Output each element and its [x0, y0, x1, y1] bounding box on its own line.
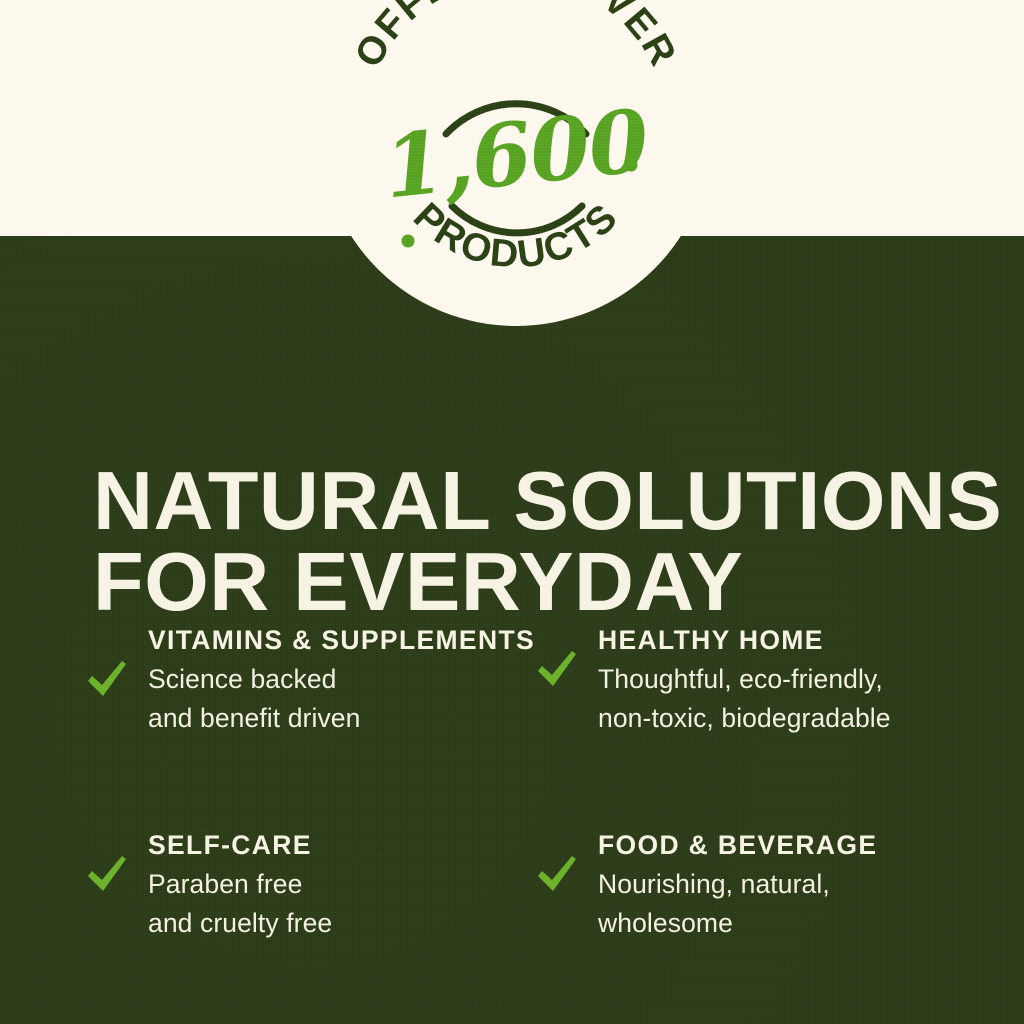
- feature-desc-line: Thoughtful, eco-friendly,: [598, 660, 986, 699]
- feature-title-line: HEALTHY HOME: [598, 625, 824, 655]
- feature-title-line: SELF-CARE: [148, 830, 312, 860]
- feature-title: FOOD & BEVERAGE: [598, 827, 986, 864]
- check-icon: [536, 650, 578, 688]
- feature-desc-line: and benefit driven: [148, 699, 536, 738]
- feature-desc-line: and cruelty free: [148, 904, 536, 943]
- feature-text: SELF-CARE Paraben free and cruelty free: [148, 825, 536, 943]
- feature-row: VITAMINS & SUPPLEMENTS Science backed an…: [86, 620, 986, 825]
- check-wrap: [536, 620, 598, 688]
- feature-list: VITAMINS & SUPPLEMENTS Science backed an…: [86, 620, 986, 943]
- feature-item-vitamins-supplements: VITAMINS & SUPPLEMENTS Science backed an…: [86, 620, 536, 825]
- feature-title: SELF-CARE: [148, 827, 536, 864]
- feature-text: HEALTHY HOME Thoughtful, eco-friendly, n…: [598, 620, 986, 738]
- feature-desc-line: wholesome: [598, 904, 986, 943]
- feature-description: Nourishing, natural, wholesome: [598, 865, 986, 943]
- check-wrap: [536, 825, 598, 893]
- feature-description: Thoughtful, eco-friendly, non-toxic, bio…: [598, 660, 986, 738]
- check-icon: [86, 660, 128, 698]
- feature-item-healthy-home: HEALTHY HOME Thoughtful, eco-friendly, n…: [536, 620, 986, 825]
- check-icon: [86, 855, 128, 893]
- feature-title-line: SUPPLEMENTS: [321, 625, 535, 655]
- badge-top-arc-textpath: OFFERING OVER: [347, 0, 685, 74]
- badge-top-arc-text: OFFERING OVER: [347, 0, 685, 74]
- feature-title: HEALTHY HOME: [598, 622, 986, 659]
- feature-desc-line: Science backed: [148, 660, 536, 699]
- feature-title-line: FOOD & BEVERAGE: [598, 830, 877, 860]
- feature-row: SELF-CARE Paraben free and cruelty free: [86, 825, 986, 943]
- feature-item-self-care: SELF-CARE Paraben free and cruelty free: [86, 825, 536, 943]
- feature-desc-line: Paraben free: [148, 865, 536, 904]
- feature-desc-line: non-toxic, biodegradable: [598, 699, 986, 738]
- feature-title-line: VITAMINS &: [148, 625, 313, 655]
- headline-line-2: FOR EVERYDAY: [93, 541, 963, 622]
- check-icon: [536, 855, 578, 893]
- check-wrap: [86, 825, 148, 893]
- feature-text: VITAMINS & SUPPLEMENTS Science backed an…: [148, 620, 536, 738]
- feature-text: FOOD & BEVERAGE Nourishing, natural, who…: [598, 825, 986, 943]
- feature-description: Paraben free and cruelty free: [148, 865, 536, 943]
- feature-item-food-beverage: FOOD & BEVERAGE Nourishing, natural, who…: [536, 825, 986, 943]
- offering-over-badge: OFFERING OVER PRODUCTS 1,600: [320, 0, 712, 326]
- promotional-banner: OFFERING OVER PRODUCTS 1,600 NATURAL SOL…: [0, 0, 1024, 1024]
- badge-dot-left-icon: [402, 235, 415, 248]
- headline-line-1: NATURAL SOLUTIONS: [93, 460, 963, 541]
- feature-title: VITAMINS & SUPPLEMENTS: [148, 622, 536, 659]
- feature-description: Science backed and benefit driven: [148, 660, 536, 738]
- feature-desc-line: Nourishing, natural,: [598, 865, 986, 904]
- page-title: NATURAL SOLUTIONS FOR EVERYDAY: [93, 460, 963, 623]
- check-wrap: [86, 620, 148, 698]
